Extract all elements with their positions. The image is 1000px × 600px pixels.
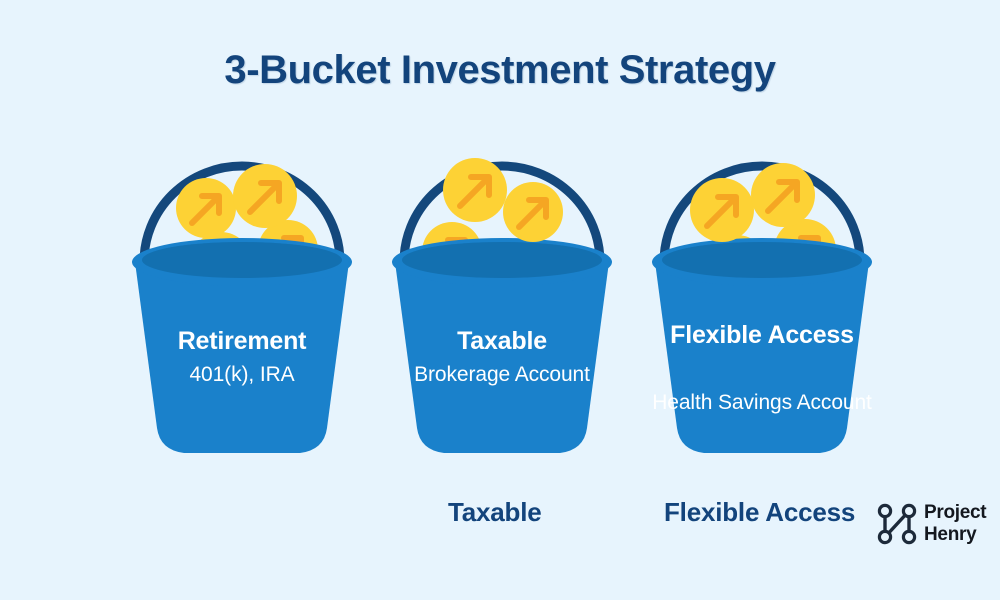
- bucket-body: [135, 262, 349, 453]
- bucket-body: [395, 262, 609, 453]
- bucket-body: [655, 262, 869, 453]
- page-title: 3-Bucket Investment Strategy: [0, 48, 1000, 93]
- infographic-canvas: 3-Bucket Investment Strategy: [0, 0, 1000, 600]
- h-node-graph-icon: [876, 500, 918, 548]
- bucket-card-retirement[interactable]: Retirement 401(k), IRA: [122, 140, 362, 480]
- bucket-illustration: [382, 140, 622, 480]
- bucket-card-flexible-access[interactable]: Flexible Access Health Savings Account: [642, 140, 882, 480]
- bucket-inner-shadow: [142, 242, 342, 278]
- bucket-illustration: [642, 140, 882, 480]
- logo-line-1: Project: [924, 502, 986, 524]
- bucket-card-taxable[interactable]: Taxable Brokerage Account: [382, 140, 622, 480]
- bucket-illustration: [122, 140, 362, 480]
- logo[interactable]: Project Henry: [876, 500, 986, 548]
- logo-line-2: Henry: [924, 524, 986, 546]
- caption-flexible-access: Flexible Access: [664, 497, 855, 528]
- bucket-inner-shadow: [662, 242, 862, 278]
- bucket-inner-shadow: [402, 242, 602, 278]
- caption-taxable: Taxable: [448, 497, 542, 528]
- logo-text: Project Henry: [924, 502, 986, 546]
